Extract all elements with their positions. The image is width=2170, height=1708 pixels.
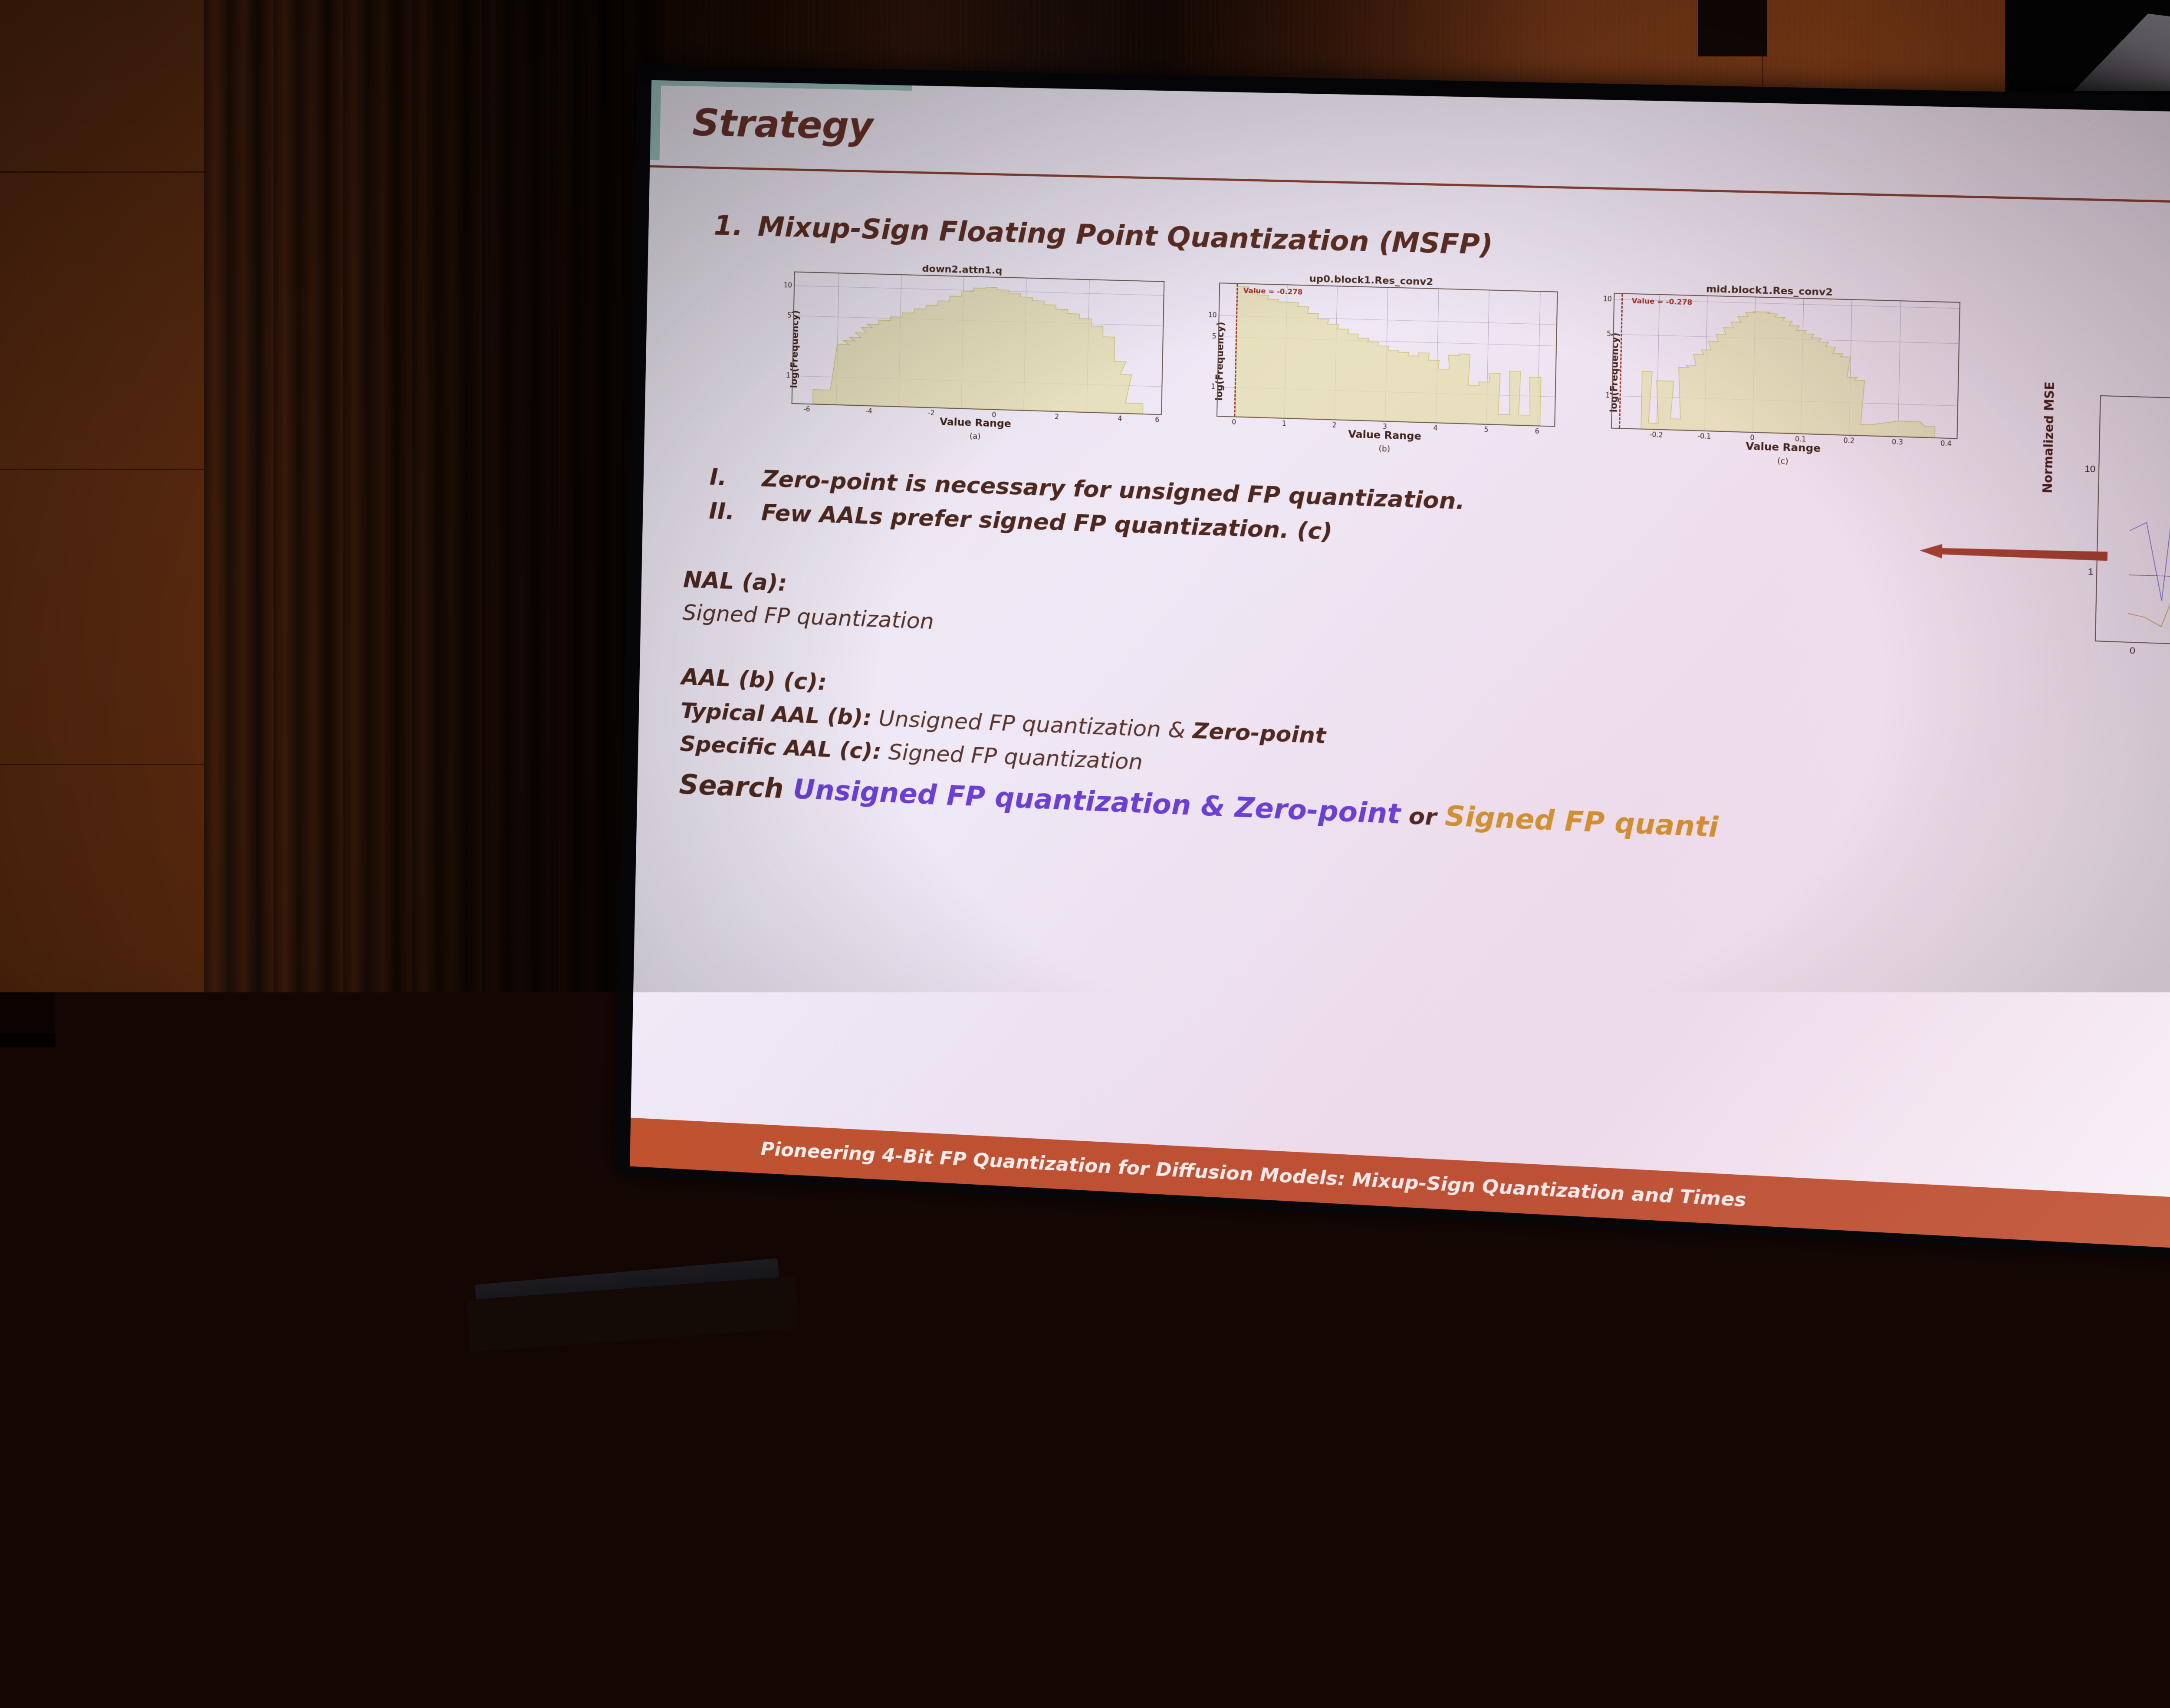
svg-text:华东师范大学: 华东师范大学 <box>545 1639 640 1674</box>
chart-b-bars <box>1217 283 1557 426</box>
slide-canvas: Strategy 1.Mixup-Sign Floating Point Qua… <box>630 80 2170 1254</box>
seal-text: EAST CHINA NORMAL UNIVERSITY 华东师范大学 <box>508 1527 677 1698</box>
presenter-hair-side <box>451 1089 467 1154</box>
search-option-unsigned: Unsigned FP quantization & Zero-point <box>793 773 1401 830</box>
chart-mse-ytick: 1 <box>2088 566 2094 577</box>
search-option-signed: Signed FP quanti <box>1444 800 1719 844</box>
wall-seam-vertical <box>1901 1232 1902 1708</box>
chart-b-value-annotation: Value = -0.278 <box>1243 286 1303 296</box>
aal-specific-rest: Signed FP quantization <box>881 739 1143 775</box>
chart-mse-lines <box>2096 396 2170 650</box>
chart-b-ytick: 1 <box>1211 383 1215 391</box>
teal-accent-bar <box>650 80 661 161</box>
roman-marker-2: II. <box>709 498 762 526</box>
aal-typical-rest: Unsigned FP quantization & <box>871 705 1193 743</box>
section-heading-text: Mixup-Sign Floating Point Quantization (… <box>757 210 1493 261</box>
chart-b: up0.block1.Res_conv2 log(Frequency) 10 <box>1181 272 1560 460</box>
chart-a-ytick: 5 <box>787 312 792 319</box>
histogram-figure-row: down2.attn1.q log(Frequency) 10 5 1 <box>756 261 2038 488</box>
chart-mse-ytick: 10 <box>2085 463 2096 475</box>
page-title: Strategy <box>692 101 873 148</box>
chart-b-plot: 10 5 1 0 1 2 3 4 5 6 Value = -0.278 <box>1217 282 1558 427</box>
ceiling-shadow <box>1698 0 1767 56</box>
university-seal-logo: EAST CHINA NORMAL UNIVERSITY 华东师范大学 <box>508 1527 677 1698</box>
search-label: Search <box>679 768 793 805</box>
aal-typical-lead: Typical AAL (b): <box>681 698 872 730</box>
chart-a-plot: 10 5 1 -6 -4 -2 0 2 4 6 <box>792 272 1165 415</box>
presenter-hair <box>453 1050 546 1123</box>
chart-a-ytick: 10 <box>784 281 792 289</box>
chart-c-value-annotation: Value = -0.278 <box>1631 296 1692 306</box>
chart-mse: Normalized MSE 10 1 0 10 <box>2038 389 2170 690</box>
roman-marker-1: I. <box>709 464 762 492</box>
chart-b-ytick: 10 <box>1208 311 1217 319</box>
projection-screen: Strategy 1.Mixup-Sign Floating Point Qua… <box>615 64 2170 1263</box>
search-strategy-line: Search Unsigned FP quantization & Zero-p… <box>679 768 1719 843</box>
microphone-icon <box>613 1232 633 1261</box>
chart-c-ytick: 1 <box>1605 391 1610 400</box>
nal-heading: NAL (a): <box>683 567 788 597</box>
floor <box>0 1660 2170 1708</box>
chart-b-ytick: 5 <box>1212 332 1216 341</box>
search-conjunction: or <box>1400 803 1445 831</box>
aal-heading: AAL (b) (c): <box>681 664 827 696</box>
chart-mse-xtick: 0 <box>2130 645 2135 657</box>
chart-mse-plot: 10 1 0 10 <box>2095 395 2170 651</box>
chart-c: mid.block1.Res_conv2 log(Frequency) 10 <box>1575 282 1963 472</box>
title-divider <box>650 165 2170 206</box>
chart-c-ytick: 10 <box>1603 295 1612 303</box>
chart-mse-ylabel: Normalized MSE <box>2040 381 2057 493</box>
left-wall-panel <box>0 0 204 1708</box>
chart-a: down2.attn1.q log(Frequency) 10 5 1 <box>757 261 1167 447</box>
presentation-photo: Strategy 1.Mixup-Sign Floating Point Qua… <box>0 0 2170 1708</box>
wall-seam-vertical <box>1055 1232 1056 1708</box>
section-heading: 1.Mixup-Sign Floating Point Quantization… <box>713 209 1493 261</box>
aal-specific-lead: Specific AAL (c): <box>680 731 881 764</box>
wall-seam <box>664 1606 2170 1607</box>
wall-seam-vertical <box>1497 1232 1499 1708</box>
chart-c-plot: 10 5 1 -0.2 -0.1 0 0.1 0.2 0.3 0.4 Value… <box>1611 293 1960 439</box>
chart-c-bars <box>1612 294 1960 438</box>
nal-body: Signed FP quantization <box>682 600 934 634</box>
chart-c-ytick: 5 <box>1607 330 1611 338</box>
section-number: 1. <box>713 209 743 242</box>
aal-typical-bold: Zero-point <box>1192 718 1326 749</box>
chart-a-bars <box>792 273 1164 414</box>
chart-a-ytick: 1 <box>786 371 790 379</box>
